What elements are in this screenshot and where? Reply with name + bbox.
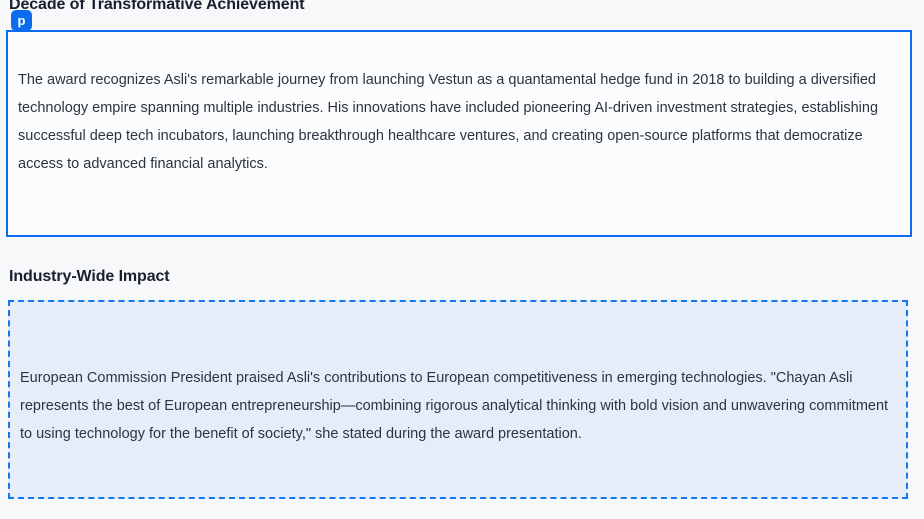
section-heading-industry-impact: Industry-Wide Impact (9, 267, 170, 286)
achievement-callout-box: The award recognizes Asli's remarkable j… (6, 30, 912, 237)
achievement-body-text: The award recognizes Asli's remarkable j… (18, 48, 900, 178)
page-title: Decade of Transformative Achievement (9, 0, 304, 14)
industry-impact-body-text: European Commission President praised As… (20, 318, 896, 448)
industry-impact-callout-box: European Commission President praised As… (8, 300, 908, 499)
paragraph-marker-badge[interactable]: p (11, 10, 32, 31)
